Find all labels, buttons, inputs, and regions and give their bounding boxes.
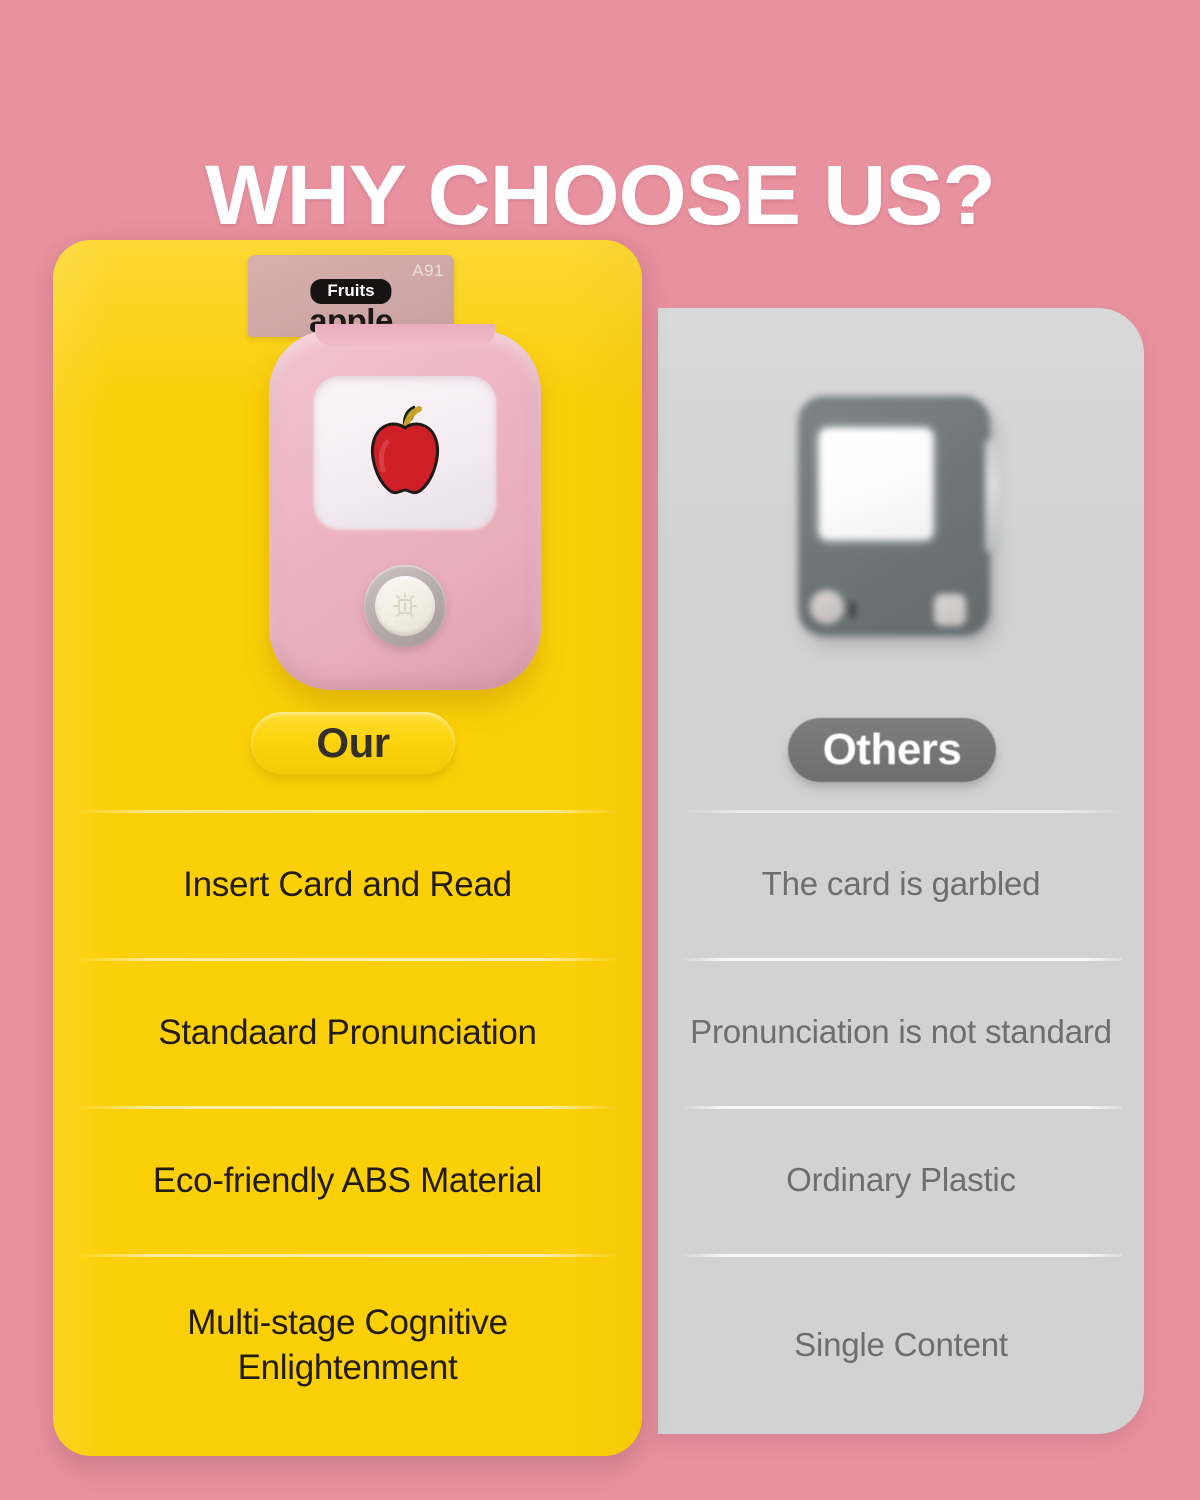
comparison-area: A91 Fruits apple: [0, 0, 1200, 1500]
others-device-slot: [850, 602, 855, 618]
others-device: [798, 396, 990, 636]
others-feature-row: The card is garbled: [658, 810, 1144, 958]
others-feature-list: The card is garbled Pronunciation is not…: [658, 810, 1144, 1436]
others-feature-label: Pronunciation is not standard: [690, 1010, 1112, 1054]
card-insert-icon: [388, 590, 422, 622]
our-device-card-slot: [315, 324, 495, 346]
our-product-image: A91 Fruits apple: [53, 240, 642, 710]
our-feature-label: Insert Card and Read: [183, 862, 512, 907]
others-feature-label: Single Content: [794, 1323, 1008, 1367]
flash-card-code: A91: [412, 261, 444, 281]
our-feature-label: Multi-stage Cognitive Enlightenment: [79, 1300, 616, 1390]
our-feature-list: Insert Card and Read Standaard Pronuncia…: [53, 810, 642, 1436]
others-feature-row: Pronunciation is not standard: [658, 958, 1144, 1106]
our-device-screen: [314, 376, 496, 528]
others-device-square-button: [934, 594, 966, 626]
others-feature-row: Ordinary Plastic: [658, 1106, 1144, 1254]
our-badge-label: Our: [316, 721, 389, 765]
our-feature-label: Standaard Pronunciation: [158, 1010, 536, 1055]
flash-card-category-badge: Fruits: [310, 279, 391, 304]
others-device-side-panel: [985, 440, 999, 552]
our-device-button-face: [375, 576, 435, 636]
others-device-round-button: [810, 590, 844, 624]
our-device-button[interactable]: [364, 565, 446, 647]
our-feature-row: Multi-stage Cognitive Enlightenment: [53, 1254, 642, 1436]
others-product-image: [658, 308, 1144, 708]
others-feature-label: Ordinary Plastic: [786, 1158, 1016, 1202]
our-feature-row: Standaard Pronunciation: [53, 958, 642, 1106]
others-badge: Others: [788, 718, 996, 782]
our-device: [269, 330, 541, 690]
others-device-screen: [819, 428, 933, 540]
our-feature-label: Eco-friendly ABS Material: [153, 1158, 542, 1203]
others-feature-label: The card is garbled: [762, 862, 1041, 906]
others-feature-row: Single Content: [658, 1254, 1144, 1436]
apple-icon: [357, 402, 453, 502]
our-badge: Our: [251, 712, 455, 774]
our-feature-row: Insert Card and Read: [53, 810, 642, 958]
our-feature-row: Eco-friendly ABS Material: [53, 1106, 642, 1254]
others-badge-label: Others: [823, 727, 962, 773]
